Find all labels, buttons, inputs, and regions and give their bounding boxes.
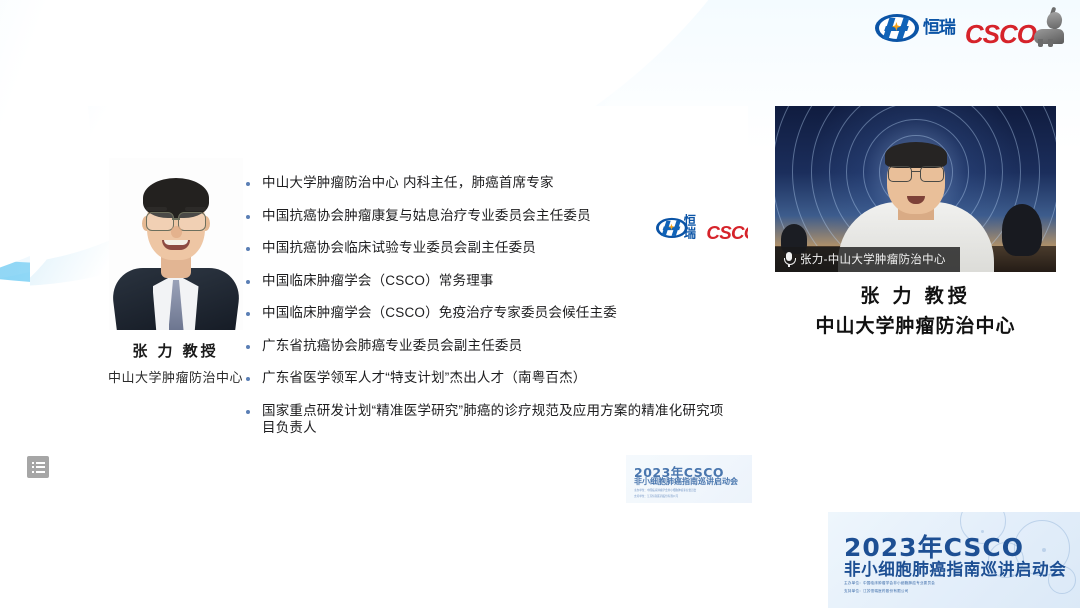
event-banner-fine-1: 主办单位：中国临床肿瘤学会非小细胞肺癌专业委员会 (844, 581, 935, 586)
speaker-organization: 中山大学肿瘤防治中心 (78, 367, 273, 386)
event-banner-fine-2: 支持单位：江苏恒瑞医药股份有限公司 (844, 589, 909, 594)
video-participant-tile[interactable]: 张力-中山大学肿瘤防治中心 (775, 106, 1056, 272)
list-item: 中山大学肿瘤防治中心 内科主任，肺癌首席专家 (246, 174, 736, 192)
list-icon (32, 462, 45, 473)
list-item: 中国临床肿瘤学会（CSCO）常务理事 (246, 272, 736, 290)
video-bg-tree-right (1002, 204, 1042, 256)
video-caption-name: 张 力 教授 (775, 281, 1056, 308)
bio-item-text: 中国抗癌协会肿瘤康复与姑息治疗专业委员会主任委员 (262, 207, 591, 225)
watermark-banner-fine-2: 支持单位：江苏恒瑞医药股份有限公司 (634, 494, 678, 498)
bullet-icon (246, 410, 250, 414)
watermark-banner-fine-1: 主办单位：中国临床肿瘤学会非小细胞肺癌专业委员会 (634, 488, 696, 492)
list-icon-button[interactable] (27, 456, 49, 478)
speaker-bio-list: 中山大学肿瘤防治中心 内科主任，肺癌首席专家 中国抗癌协会肿瘤康复与姑息治疗专业… (246, 174, 736, 436)
list-item: 中国抗癌协会临床试验专业委员会副主任委员 (246, 239, 736, 257)
speaker-name: 张 力 教授 (78, 340, 273, 361)
list-item: 国家重点研发计划“精准医学研究”肺癌的诊疗规范及应用方案的精准化研究项目负责人 (246, 402, 736, 436)
list-item: 广东省抗癌协会肺癌专业委员会副主任委员 (246, 337, 736, 355)
list-item: 广东省医学领军人才“特支计划”杰出人才（南粤百杰） (246, 369, 736, 387)
bullet-icon (246, 312, 250, 316)
bio-item-text: 中国抗癌协会临床试验专业委员会副主任委员 (262, 239, 536, 257)
bio-item-text: 中国临床肿瘤学会（CSCO）免疫治疗专家委员会候任主委 (262, 304, 617, 322)
watermark-banner-subtitle: 非小细胞肺癌指南巡讲启动会 (634, 476, 738, 487)
bio-item-text: 国家重点研发计划“精准医学研究”肺癌的诊疗规范及应用方案的精准化研究项目负责人 (262, 402, 736, 436)
header-logos: 恒瑞 CSCO (875, 10, 1066, 46)
bullet-icon (246, 215, 250, 219)
csco-mascot-icon (1032, 10, 1066, 46)
bio-item-text: 广东省抗癌协会肺癌专业委员会副主任委员 (262, 337, 522, 355)
speaker-portrait-block: 张 力 教授 中山大学肿瘤防治中心 (78, 158, 273, 386)
video-participant-name: 张力-中山大学肿瘤防治中心 (800, 251, 946, 267)
hengrui-mark-icon (875, 11, 921, 45)
video-caption: 张 力 教授 中山大学肿瘤防治中心 (775, 281, 1056, 338)
list-item: 中国临床肿瘤学会（CSCO）免疫治疗专家委员会候任主委 (246, 304, 736, 322)
microphone-icon (783, 252, 794, 267)
csco-logo-text: CSCO (965, 23, 1036, 46)
bullet-icon (246, 247, 250, 251)
bullet-icon (246, 182, 250, 186)
csco-logo: CSCO (965, 10, 1066, 46)
bio-item-text: 广东省医学领军人才“特支计划”杰出人才（南粤百杰） (262, 369, 587, 387)
video-participant-label: 张力-中山大学肿瘤防治中心 (775, 247, 960, 272)
bio-item-text: 中国临床肿瘤学会（CSCO）常务理事 (262, 272, 494, 290)
screen-root: 恒瑞 CSCO 恒瑞 CSCO (0, 0, 1080, 608)
list-item: 中国抗癌协会肿瘤康复与姑息治疗专业委员会主任委员 (246, 207, 736, 225)
bullet-icon (246, 280, 250, 284)
bullet-icon (246, 377, 250, 381)
presentation-slide[interactable]: 恒瑞 CSCO (30, 106, 748, 436)
bio-item-text: 中山大学肿瘤防治中心 内科主任，肺癌首席专家 (262, 174, 554, 192)
watermark-event-banner: 2023年CSCO 非小细胞肺癌指南巡讲启动会 主办单位：中国临床肿瘤学会非小细… (626, 455, 752, 503)
hengrui-logo-text: 恒瑞 (923, 20, 955, 37)
speaker-portrait-photo (109, 158, 243, 330)
bullet-icon (246, 345, 250, 349)
event-banner: 2023年CSCO 非小细胞肺癌指南巡讲启动会 主办单位：中国临床肿瘤学会非小细… (828, 512, 1080, 608)
video-caption-organization: 中山大学肿瘤防治中心 (775, 311, 1056, 338)
hengrui-logo: 恒瑞 (875, 11, 955, 45)
event-banner-subtitle: 非小细胞肺癌指南巡讲启动会 (844, 556, 1066, 580)
